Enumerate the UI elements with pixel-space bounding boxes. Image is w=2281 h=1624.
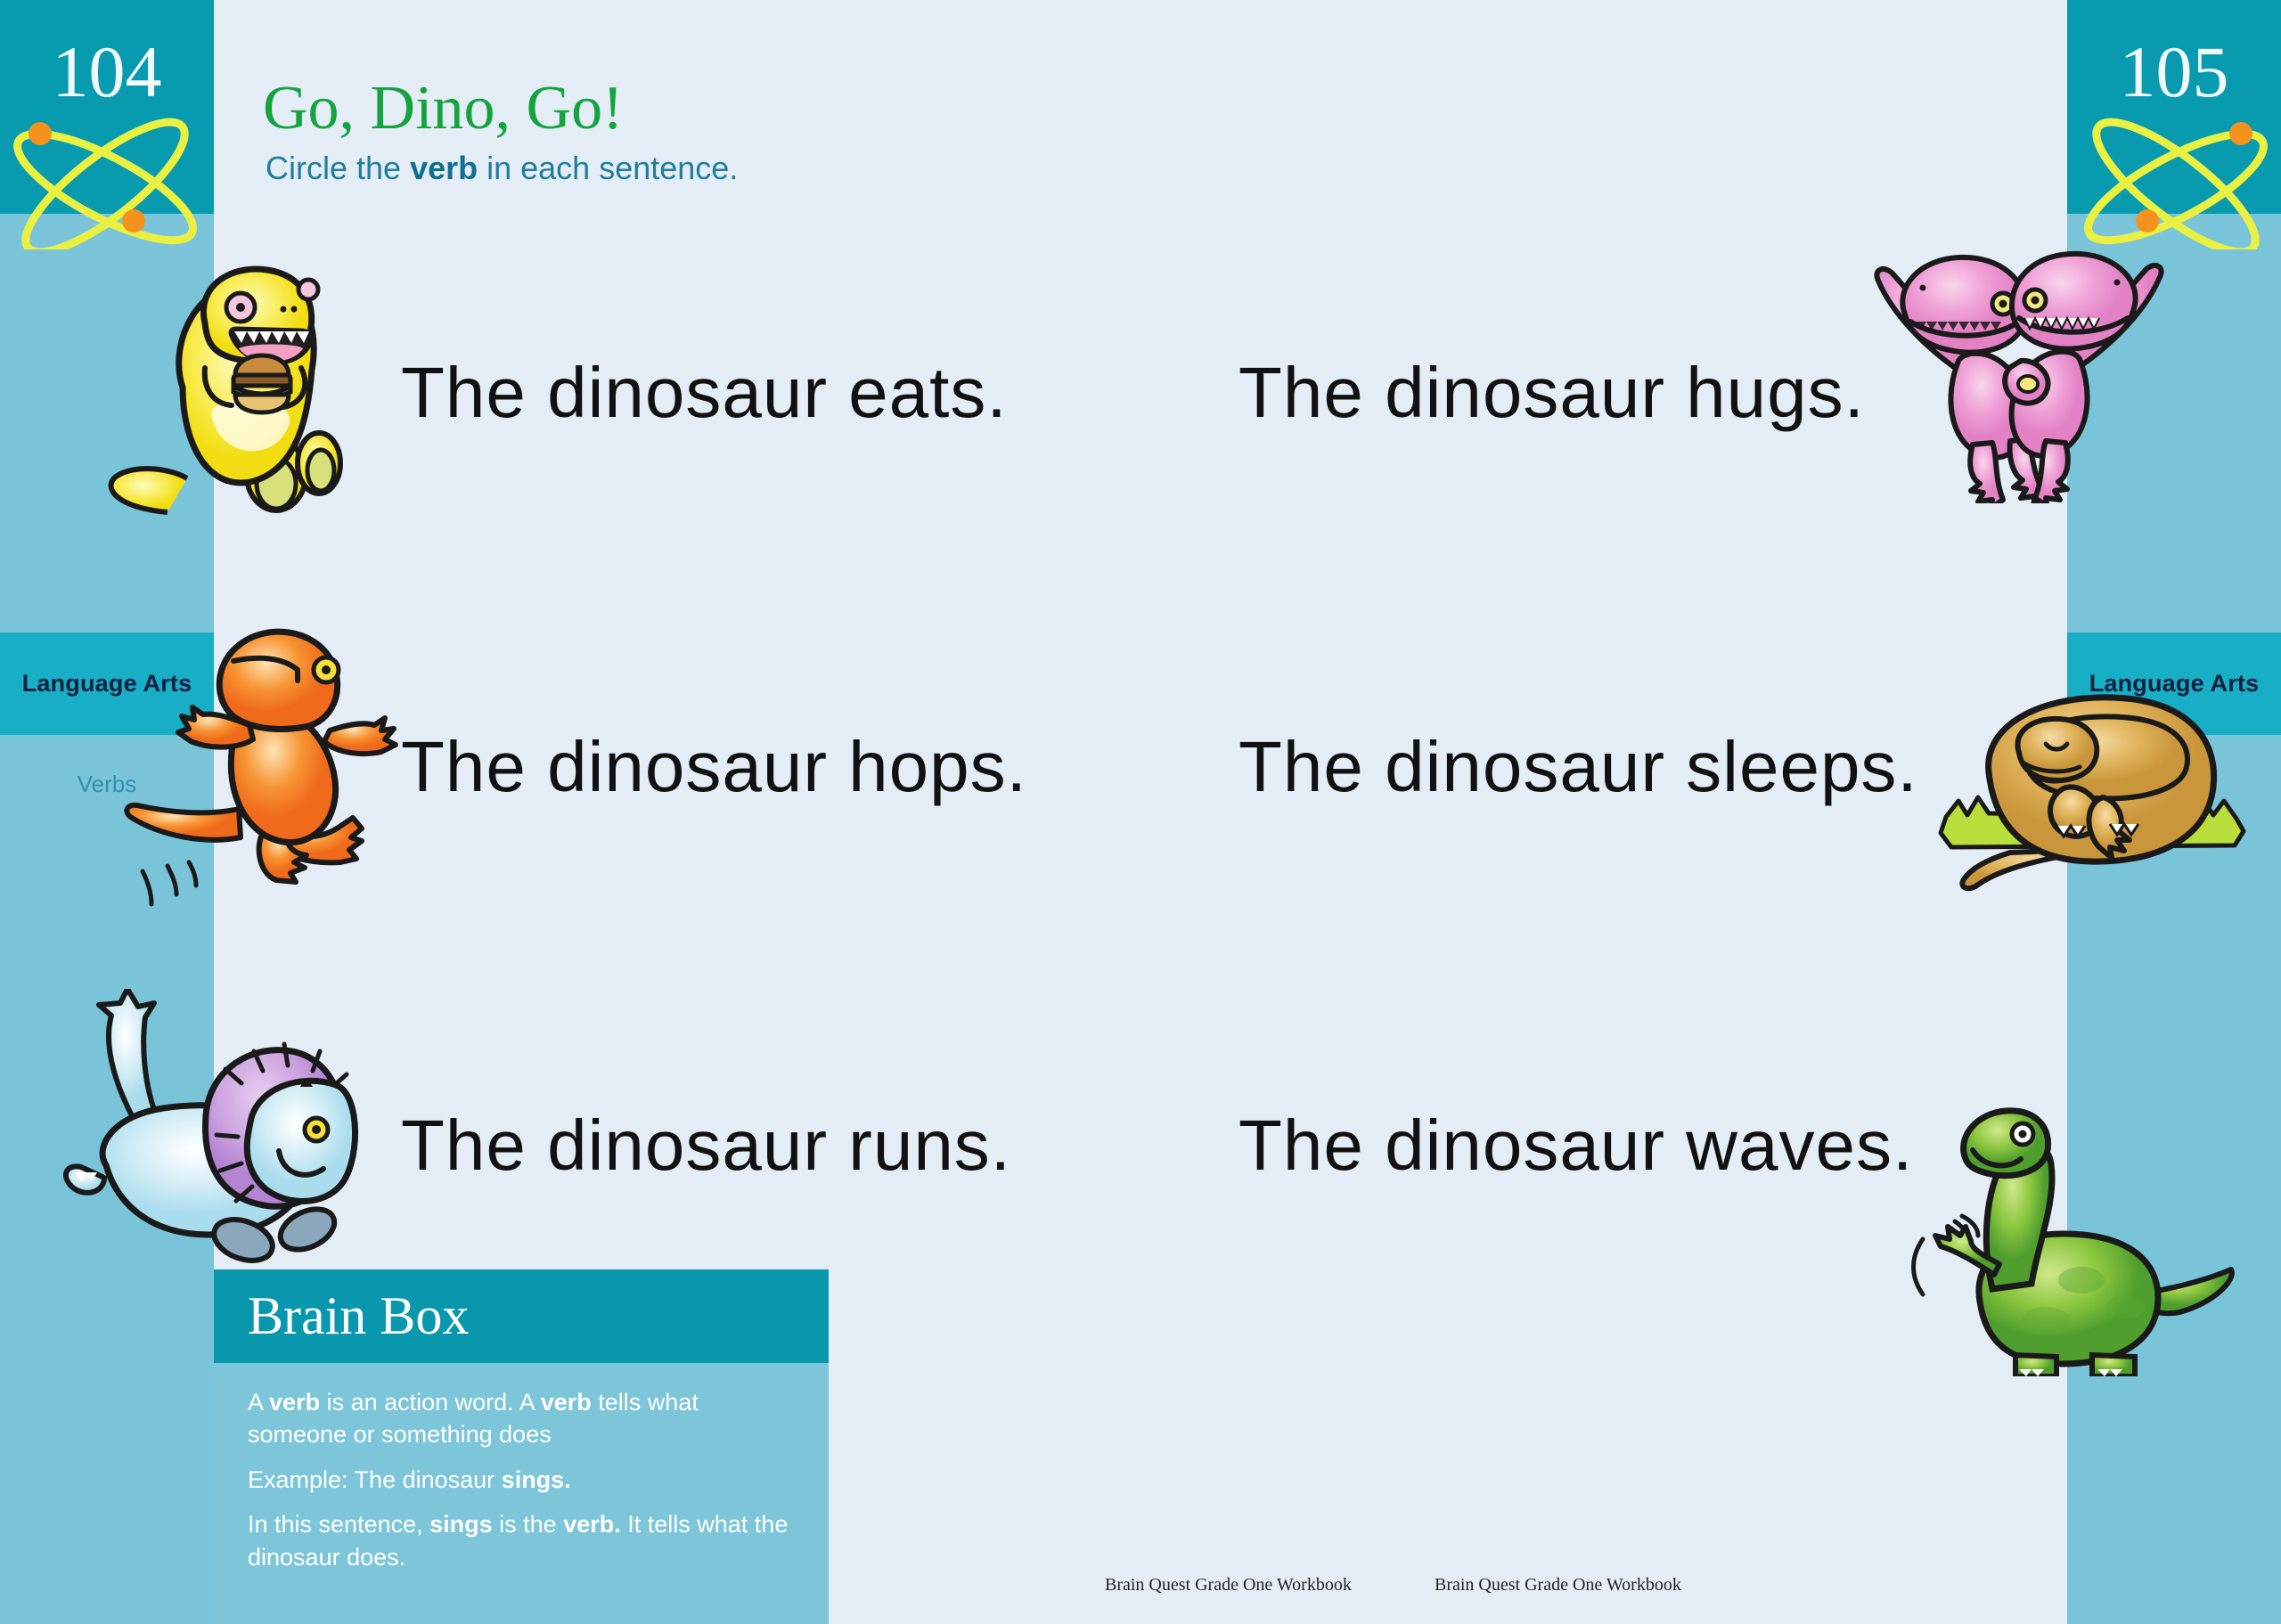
yellow-trex-eating-burger-illustration [98, 254, 365, 526]
instruction-line: Circle the verb in each sentence. [266, 150, 738, 187]
sentence-left-3[interactable]: The dinosaur runs. [401, 1105, 1011, 1187]
atom-decoration-right [2067, 116, 2281, 249]
bb1d: verb [541, 1389, 592, 1416]
page-number-right: 105 [2067, 36, 2281, 109]
brain-box-line-1: A verb is an action word. A verb tells w… [248, 1386, 795, 1451]
sentence-right-3[interactable]: The dinosaur waves. [1239, 1105, 1913, 1187]
page-content: Go, Dino, Go! Circle the verb in each se… [214, 0, 2067, 1624]
atom-decoration-left [0, 116, 214, 249]
bb3a: In this sentence, [248, 1511, 429, 1538]
blue-triceratops-running-illustration [49, 989, 361, 1287]
sentence-right-1[interactable]: The dinosaur hugs. [1239, 352, 1865, 434]
bb3c: is the [493, 1511, 564, 1538]
brain-box-line-2: Example: The dinosaur sings. [248, 1464, 795, 1496]
page-title: Go, Dino, Go! [263, 73, 623, 144]
instruction-suffix: in each sentence. [478, 150, 738, 186]
instruction-bold-word: verb [410, 150, 478, 186]
workbook-spread: Language Arts Verbs 104 Language Arts 10… [0, 0, 2281, 1624]
brain-box-heading: Brain Box [248, 1285, 469, 1347]
page-number-left: 104 [0, 36, 214, 109]
green-brontosaurus-waving-illustration [1880, 1082, 2236, 1381]
footer-left: Brain Quest Grade One Workbook [1105, 1575, 1352, 1595]
bb2b: sings. [502, 1466, 571, 1493]
sentence-left-1[interactable]: The dinosaur eats. [401, 352, 1008, 434]
sentence-right-2[interactable]: The dinosaur sleeps. [1239, 726, 1918, 808]
bb1b: verb [269, 1389, 320, 1416]
footer-right: Brain Quest Grade One Workbook [1435, 1575, 1681, 1595]
tan-dino-sleeping-illustration [1934, 681, 2254, 918]
sentence-left-2[interactable]: The dinosaur hops. [401, 726, 1027, 808]
bb3d: verb. [563, 1511, 621, 1538]
bb1c: is an action word. A [320, 1389, 541, 1416]
bb1a: A [248, 1389, 269, 1416]
brain-box: Brain Box A verb is an action word. A ve… [214, 1269, 829, 1624]
bb2a: Example: The dinosaur [248, 1466, 502, 1493]
bb3b: sings [429, 1511, 493, 1538]
brain-box-body: A verb is an action word. A verb tells w… [214, 1363, 829, 1624]
orange-dino-hopping-illustration [107, 615, 401, 913]
instruction-prefix: Circle the [266, 150, 410, 186]
pink-dinos-hugging-illustration [1844, 236, 2183, 508]
brain-box-line-3: In this sentence, sings is the verb. It … [248, 1508, 795, 1573]
